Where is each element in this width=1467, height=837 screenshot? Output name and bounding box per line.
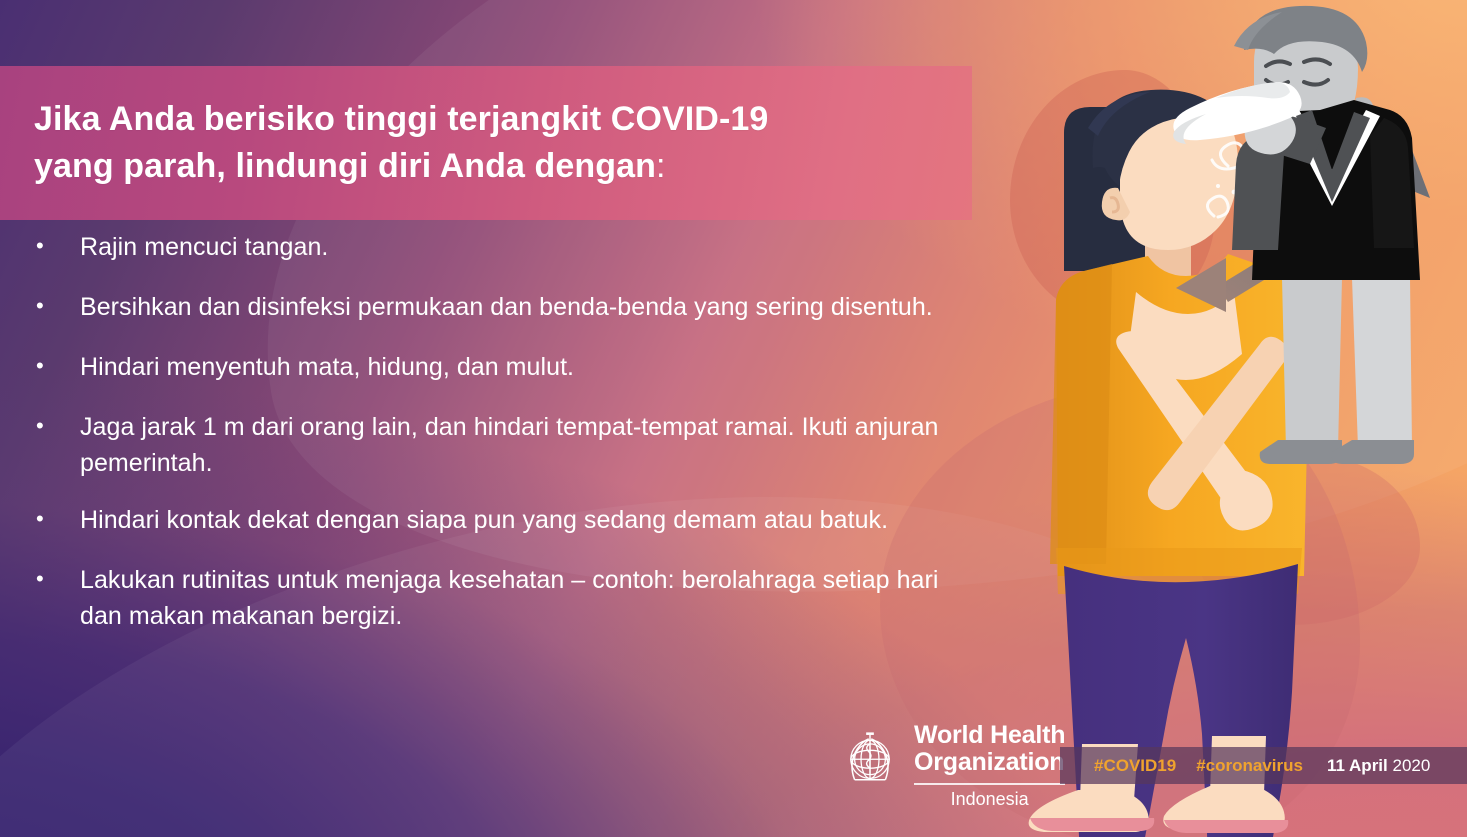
bullet-marker-icon: •	[30, 344, 80, 388]
date-day-month: 11 April	[1327, 756, 1388, 775]
bullet-marker-icon: •	[30, 284, 80, 328]
who-name-line-1: World Health	[914, 722, 1065, 749]
who-country-label: Indonesia	[914, 790, 1065, 810]
publication-date: 11 April 2020	[1327, 756, 1430, 776]
who-logo: World Health Organization Indonesia	[838, 722, 1065, 810]
date-year: 2020	[1393, 756, 1431, 775]
who-name-line-2: Organization	[914, 749, 1065, 776]
list-item-label: Rajin mencuci tangan.	[80, 224, 328, 266]
list-item: • Lakukan rutinitas untuk menjaga keseha…	[30, 557, 960, 634]
bullet-marker-icon: •	[30, 497, 80, 541]
list-item-label: Bersihkan dan disinfeksi permukaan dan b…	[80, 284, 933, 326]
list-item-label: Jaga jarak 1 m dari orang lain, dan hind…	[80, 404, 960, 481]
title-line-2: yang parah, lindungi diri Anda dengan	[34, 147, 656, 185]
title-line-1: Jika Anda berisiko tinggi terjangkit COV…	[34, 100, 768, 138]
list-item: • Jaga jarak 1 m dari orang lain, dan hi…	[30, 404, 960, 481]
who-emblem-icon	[838, 726, 902, 790]
list-item: • Hindari menyentuh mata, hidung, dan mu…	[30, 344, 960, 388]
hashtag-footer-bar: #COVID19 #coronavirus 11 April 2020	[1060, 747, 1467, 784]
bullet-marker-icon: •	[30, 404, 80, 448]
hashtag-footer-content: #COVID19 #coronavirus 11 April 2020	[1060, 756, 1430, 776]
page-title: Jika Anda berisiko tinggi terjangkit COV…	[0, 96, 802, 190]
list-item: • Rajin mencuci tangan.	[30, 224, 960, 268]
title-band: Jika Anda berisiko tinggi terjangkit COV…	[0, 66, 972, 220]
list-item-label: Hindari kontak dekat dengan siapa pun ya…	[80, 497, 888, 539]
list-item-label: Hindari menyentuh mata, hidung, dan mulu…	[80, 344, 574, 386]
who-wordmark: World Health Organization Indonesia	[914, 722, 1065, 810]
illustration-group	[960, 0, 1467, 837]
who-divider	[914, 783, 1065, 785]
list-item-label: Lakukan rutinitas untuk menjaga kesehata…	[80, 557, 960, 634]
list-item: • Bersihkan dan disinfeksi permukaan dan…	[30, 284, 960, 328]
poster-root: Jika Anda berisiko tinggi terjangkit COV…	[0, 0, 1467, 837]
hashtag-covid19[interactable]: #COVID19	[1094, 756, 1176, 776]
list-item: • Hindari kontak dekat dengan siapa pun …	[30, 497, 960, 541]
bullet-marker-icon: •	[30, 224, 80, 268]
title-colon: :	[656, 147, 666, 185]
hashtag-coronavirus[interactable]: #coronavirus	[1196, 756, 1303, 776]
bullet-marker-icon: •	[30, 557, 80, 601]
advice-list: • Rajin mencuci tangan. • Bersihkan dan …	[30, 224, 960, 650]
